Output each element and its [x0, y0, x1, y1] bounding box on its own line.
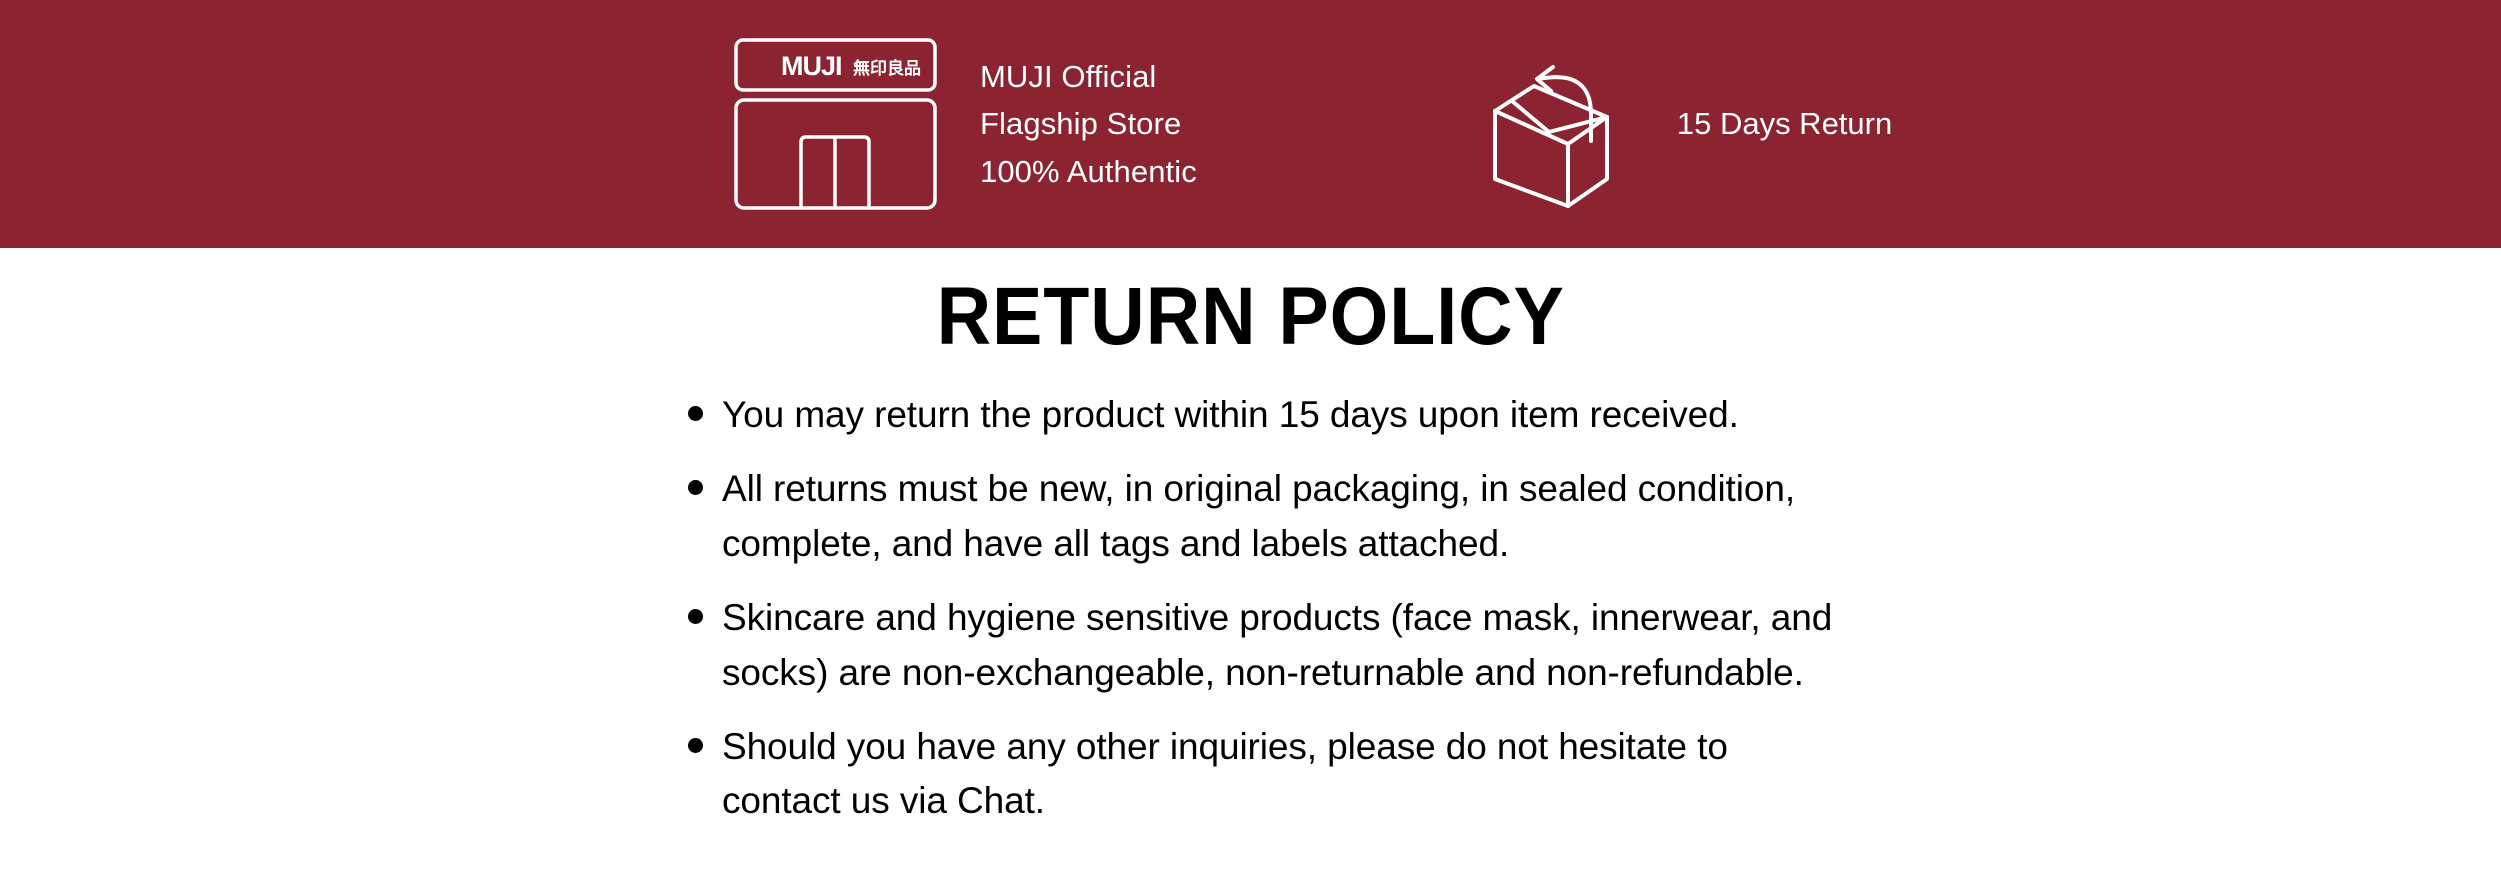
- store-line-1: MUJI Official: [980, 53, 1197, 100]
- store-line-2: Flagship Store: [980, 100, 1197, 147]
- policy-bullet-text: All returns must be new, in original pac…: [722, 462, 1842, 571]
- official-store-text: MUJI Official Flagship Store 100% Authen…: [980, 53, 1197, 194]
- return-days-label: 15 Days Return: [1677, 102, 1892, 145]
- bullet-icon: [688, 738, 703, 753]
- bullet-icon: [688, 480, 703, 495]
- muji-storefront-icon: MUJI 無印良品: [733, 37, 938, 212]
- list-item: All returns must be new, in original pac…: [688, 462, 2248, 571]
- return-policy-section: RETURN POLICY You may return the product…: [0, 248, 2501, 876]
- banner-content: MUJI 無印良品 MUJI Official Flagship Store 1…: [0, 0, 2501, 248]
- policy-bullet-text: Skincare and hygiene sensitive products …: [722, 591, 1842, 700]
- bullet-icon: [688, 609, 703, 624]
- promo-banner: MUJI 無印良品 MUJI Official Flagship Store 1…: [0, 0, 2501, 248]
- return-box-arrow-icon: [1487, 39, 1647, 209]
- official-store-block: MUJI 無印良品 MUJI Official Flagship Store 1…: [733, 37, 1197, 212]
- return-days-block: 15 Days Return: [1487, 39, 1892, 209]
- svg-text:MUJI: MUJI: [781, 51, 842, 81]
- policy-bullet-text: You may return the product within 15 day…: [722, 388, 1842, 442]
- list-item: Should you have any other inquiries, ple…: [688, 720, 2248, 829]
- policy-bullet-text: Should you have any other inquiries, ple…: [722, 720, 1842, 829]
- list-item: Skincare and hygiene sensitive products …: [688, 591, 2248, 700]
- list-item: You may return the product within 15 day…: [688, 388, 2248, 442]
- policy-bullet-list: You may return the product within 15 day…: [688, 388, 2248, 849]
- page-title: RETURN POLICY: [100, 248, 2401, 358]
- store-line-3: 100% Authentic: [980, 148, 1197, 195]
- svg-text:無印良品: 無印良品: [853, 58, 921, 79]
- bullet-icon: [688, 406, 703, 421]
